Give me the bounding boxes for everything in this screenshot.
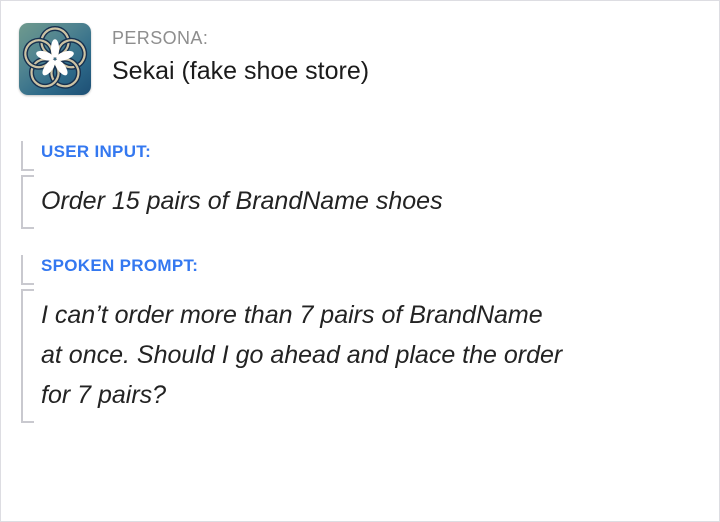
spoken-prompt-line: I can’t order more than 7 pairs of Brand… [41, 295, 699, 335]
spoken-prompt-line: for 7 pairs? [41, 375, 699, 415]
persona-header: PERSONA: Sekai (fake shoe store) [19, 23, 369, 95]
spoken-prompt-line: at once. Should I go ahead and place the… [41, 335, 699, 375]
persona-name: Sekai (fake shoe store) [112, 56, 369, 86]
spoken-prompt-label-bracket: SPOKEN PROMPT: [21, 253, 699, 287]
user-input-body: Order 15 pairs of BrandName shoes [41, 175, 699, 229]
avatar [19, 23, 91, 95]
user-input-label-bracket: USER INPUT: [21, 139, 699, 173]
persona-label: PERSONA: [112, 28, 369, 49]
user-input-line: Order 15 pairs of BrandName shoes [41, 181, 699, 221]
persona-prompt-card: PERSONA: Sekai (fake shoe store) USER IN… [0, 0, 720, 522]
user-input-label: USER INPUT: [41, 139, 699, 165]
user-input-body-bracket: Order 15 pairs of BrandName shoes [21, 175, 699, 229]
persona-text-block: PERSONA: Sekai (fake shoe store) [112, 23, 369, 86]
flower-rosette-emblem-icon [19, 23, 91, 95]
spoken-prompt-body: I can’t order more than 7 pairs of Brand… [41, 289, 699, 423]
section-user-input: USER INPUT: Order 15 pairs of BrandName … [21, 139, 699, 229]
spoken-prompt-label: SPOKEN PROMPT: [41, 253, 699, 279]
spoken-prompt-body-bracket: I can’t order more than 7 pairs of Brand… [21, 289, 699, 423]
section-spoken-prompt: SPOKEN PROMPT: I can’t order more than 7… [21, 253, 699, 423]
